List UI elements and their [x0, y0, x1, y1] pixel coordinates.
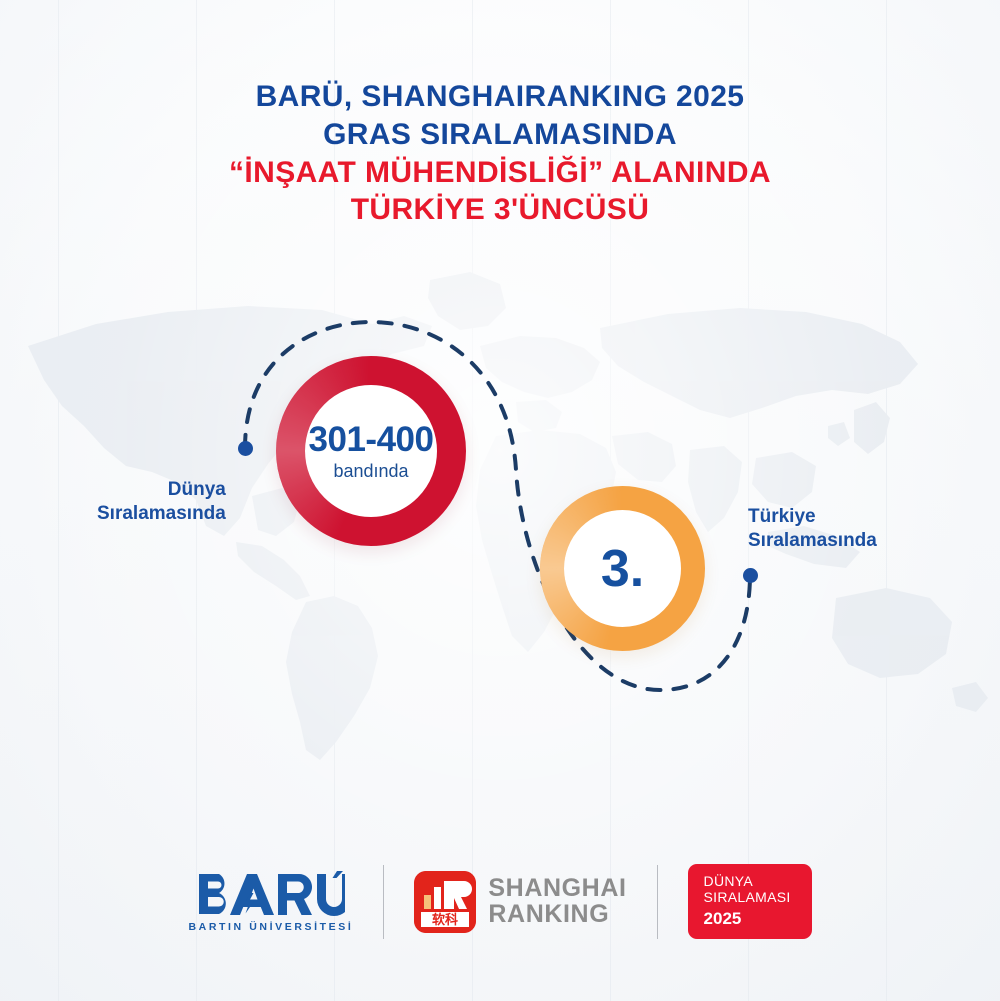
- footer-logo-bar: BARTIN ÜNİVERSİTESİ 软科: [0, 864, 1000, 939]
- shanghairanking-logo: 软科 SHANGHAI RANKING: [384, 871, 656, 933]
- title-line-4: TÜRKİYE 3'ÜNCÜSÜ: [0, 191, 1000, 229]
- shanghai-word: SHANGHAI: [488, 876, 626, 902]
- title-line-1: BARÜ, SHANGHAIRANKING 2025: [0, 78, 1000, 116]
- infographic-poster: BARÜ, SHANGHAIRANKING 2025 GRAS SIRALAMA…: [0, 0, 1000, 1001]
- world-rank-unit: bandında: [333, 462, 408, 480]
- world-rank-ring: 301-400 bandında: [276, 356, 466, 546]
- shanghairanking-glyph-icon: 软科: [414, 871, 476, 933]
- page-title: BARÜ, SHANGHAIRANKING 2025 GRAS SIRALAMA…: [0, 78, 1000, 229]
- turkey-rank-dot-icon: [743, 568, 758, 583]
- badge-line1: DÜNYA: [704, 874, 796, 890]
- world-rank-dot-icon: [238, 441, 253, 456]
- baru-subtitle: BARTIN ÜNİVERSİTESİ: [188, 921, 353, 933]
- world-rank-label-line1: Dünya: [97, 478, 226, 502]
- turkey-rank-ring: 3.: [540, 486, 705, 651]
- world-rank-value: 301-400: [309, 422, 434, 457]
- badge-year: 2025: [704, 909, 796, 928]
- title-line-2: GRAS SIRALAMASINDA: [0, 116, 1000, 154]
- turkey-rank-label: Türkiye Sıralamasında: [748, 505, 877, 553]
- turkey-rank-label-line1: Türkiye: [748, 505, 877, 529]
- title-line-3: “İNŞAAT MÜHENDİSLİĞİ” ALANINDA: [0, 154, 1000, 192]
- world-rank-label-line2: Sıralamasında: [97, 502, 226, 526]
- ranking-word: RANKING: [488, 902, 626, 928]
- baru-logo: BARTIN ÜNİVERSİTESİ: [158, 871, 383, 933]
- world-ranking-badge-cell: DÜNYA SIRALAMASI 2025: [658, 864, 842, 939]
- world-rank-label: Dünya Sıralamasında: [97, 478, 226, 526]
- shanghairanking-mark-icon: 软科: [414, 871, 476, 933]
- shanghairanking-wordmark: SHANGHAI RANKING: [488, 876, 626, 927]
- turkey-rank-value: 3.: [601, 543, 644, 595]
- turkey-rank-label-line2: Sıralamasında: [748, 529, 877, 553]
- shanghairanking-cn-text: 软科: [432, 912, 458, 928]
- baru-wordmark-icon: [197, 871, 345, 917]
- status-badge: DÜNYA SIRALAMASI 2025: [688, 864, 812, 939]
- badge-line2: SIRALAMASI: [704, 890, 796, 906]
